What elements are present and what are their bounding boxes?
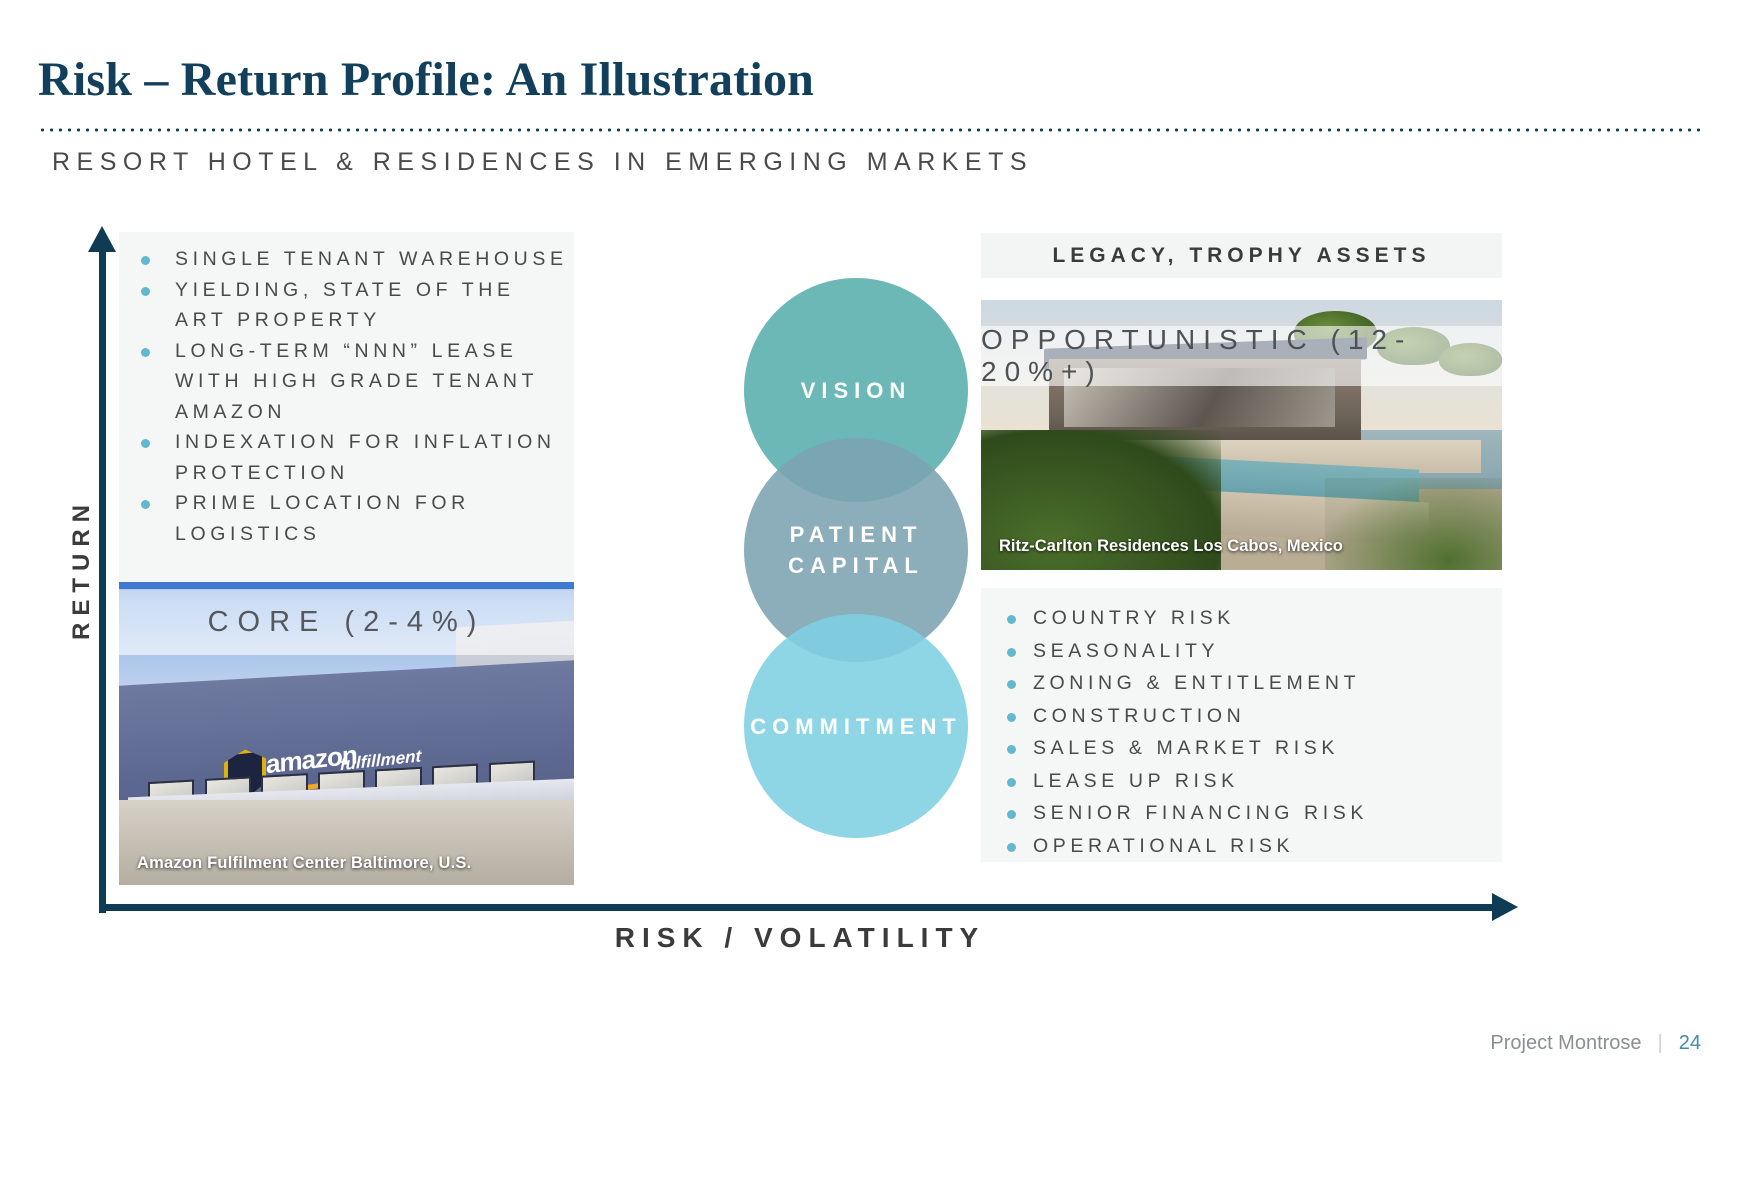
- list-item: SINGLE TENANT WAREHOUSE: [119, 244, 574, 275]
- list-item-label: COUNTRY RISK: [1033, 607, 1235, 629]
- core-attributes-list: SINGLE TENANT WAREHOUSE YIELDING, STATE …: [119, 244, 574, 549]
- list-item-label: ZONING & ENTITLEMENT: [1033, 672, 1360, 694]
- foreground-foliage: [1325, 478, 1502, 570]
- bullet-dot-icon: [1007, 843, 1016, 852]
- list-item-label: OPERATIONAL RISK: [1033, 835, 1294, 857]
- venn-label-patient-capital: PATIENT CAPITAL: [744, 519, 968, 581]
- bullet-dot-icon: [141, 287, 150, 296]
- x-axis-label: RISK / VOLATILITY: [500, 922, 1100, 954]
- slide-canvas: Risk – Return Profile: An Illustration R…: [0, 0, 1739, 1200]
- bullet-dot-icon: [1007, 778, 1016, 787]
- list-item-label: YIELDING, STATE OF THE ART PROPERTY: [175, 279, 515, 332]
- list-item-label: INDEXATION FOR INFLATION PROTECTION: [175, 431, 556, 484]
- amazon-logo: amazon fulfillment: [266, 733, 408, 769]
- y-axis-label: RETURN: [68, 469, 96, 669]
- core-attributes-panel: SINGLE TENANT WAREHOUSE YIELDING, STATE …: [119, 232, 574, 582]
- bullet-dot-icon: [1007, 745, 1016, 754]
- y-axis-line: [99, 248, 106, 913]
- list-item: OPERATIONAL RISK: [989, 830, 1502, 863]
- list-item: LEASE UP RISK: [989, 765, 1502, 798]
- x-axis-line: [99, 904, 1498, 911]
- image-caption: Amazon Fulfilment Center Baltimore, U.S.: [137, 854, 471, 873]
- bullet-dot-icon: [1007, 648, 1016, 657]
- slide-footer: Project Montrose | 24: [1490, 1032, 1701, 1055]
- bullet-dot-icon: [141, 500, 150, 509]
- bullet-dot-icon: [1007, 713, 1016, 722]
- list-item-label: PRIME LOCATION FOR LOGISTICS: [175, 492, 470, 545]
- ritz-carlton-residences-image: OPPORTUNISTIC (12-20%+) Ritz-Carlton Res…: [981, 300, 1502, 570]
- legacy-trophy-assets-header: LEGACY, TROPHY ASSETS: [981, 233, 1502, 278]
- list-item-label: LEASE UP RISK: [1033, 770, 1239, 792]
- image-caption: Ritz-Carlton Residences Los Cabos, Mexic…: [999, 537, 1343, 556]
- list-item: COUNTRY RISK: [989, 602, 1502, 635]
- opportunistic-risks-list: COUNTRY RISK SEASONALITY ZONING & ENTITL…: [989, 602, 1502, 862]
- bullet-dot-icon: [1007, 680, 1016, 689]
- list-item: SEASONALITY: [989, 635, 1502, 668]
- bullet-dot-icon: [141, 439, 150, 448]
- list-item: CONSTRUCTION: [989, 700, 1502, 733]
- list-item-label: SINGLE TENANT WAREHOUSE: [175, 248, 568, 270]
- list-item: LONG-TERM “NNN” LEASE WITH HIGH GRADE TE…: [119, 336, 574, 428]
- list-item-label: CONSTRUCTION: [1033, 705, 1245, 727]
- page-subtitle: RESORT HOTEL & RESIDENCES IN EMERGING MA…: [52, 148, 1033, 177]
- footer-separator: |: [1658, 1032, 1663, 1055]
- footer-project-name: Project Montrose: [1490, 1032, 1641, 1055]
- venn-circle-commitment: COMMITMENT: [744, 614, 968, 838]
- core-return-label: CORE (2-4%): [208, 606, 486, 639]
- opportunistic-label-overlay: OPPORTUNISTIC (12-20%+): [981, 326, 1502, 386]
- venn-label-commitment: COMMITMENT: [750, 711, 962, 742]
- bullet-dot-icon: [141, 348, 150, 357]
- list-item: PRIME LOCATION FOR LOGISTICS: [119, 488, 574, 549]
- list-item-label: SALES & MARKET RISK: [1033, 737, 1339, 759]
- amazon-warehouse-image: amazon fulfillment CORE (2-4%) Amazon Fu…: [119, 582, 574, 885]
- list-item: ZONING & ENTITLEMENT: [989, 667, 1502, 700]
- page-title: Risk – Return Profile: An Illustration: [38, 52, 814, 107]
- venn-label-vision: VISION: [801, 375, 912, 406]
- x-axis-arrowhead-icon: [1492, 893, 1518, 921]
- legacy-header-label: LEGACY, TROPHY ASSETS: [1052, 244, 1430, 268]
- list-item: INDEXATION FOR INFLATION PROTECTION: [119, 427, 574, 488]
- list-item-label: SEASONALITY: [1033, 640, 1219, 662]
- list-item: YIELDING, STATE OF THE ART PROPERTY: [119, 275, 574, 336]
- page-number: 24: [1679, 1032, 1701, 1055]
- bullet-dot-icon: [1007, 810, 1016, 819]
- opportunistic-risks-panel: COUNTRY RISK SEASONALITY ZONING & ENTITL…: [981, 588, 1502, 862]
- list-item: SENIOR FINANCING RISK: [989, 797, 1502, 830]
- opportunistic-return-label: OPPORTUNISTIC (12-20%+): [981, 324, 1502, 388]
- list-item: SALES & MARKET RISK: [989, 732, 1502, 765]
- bullet-dot-icon: [1007, 615, 1016, 624]
- bullet-dot-icon: [141, 256, 150, 265]
- title-divider: [38, 128, 1702, 132]
- list-item-label: LONG-TERM “NNN” LEASE WITH HIGH GRADE TE…: [175, 340, 538, 423]
- core-label-overlay: CORE (2-4%): [119, 589, 574, 655]
- list-item-label: SENIOR FINANCING RISK: [1033, 802, 1368, 824]
